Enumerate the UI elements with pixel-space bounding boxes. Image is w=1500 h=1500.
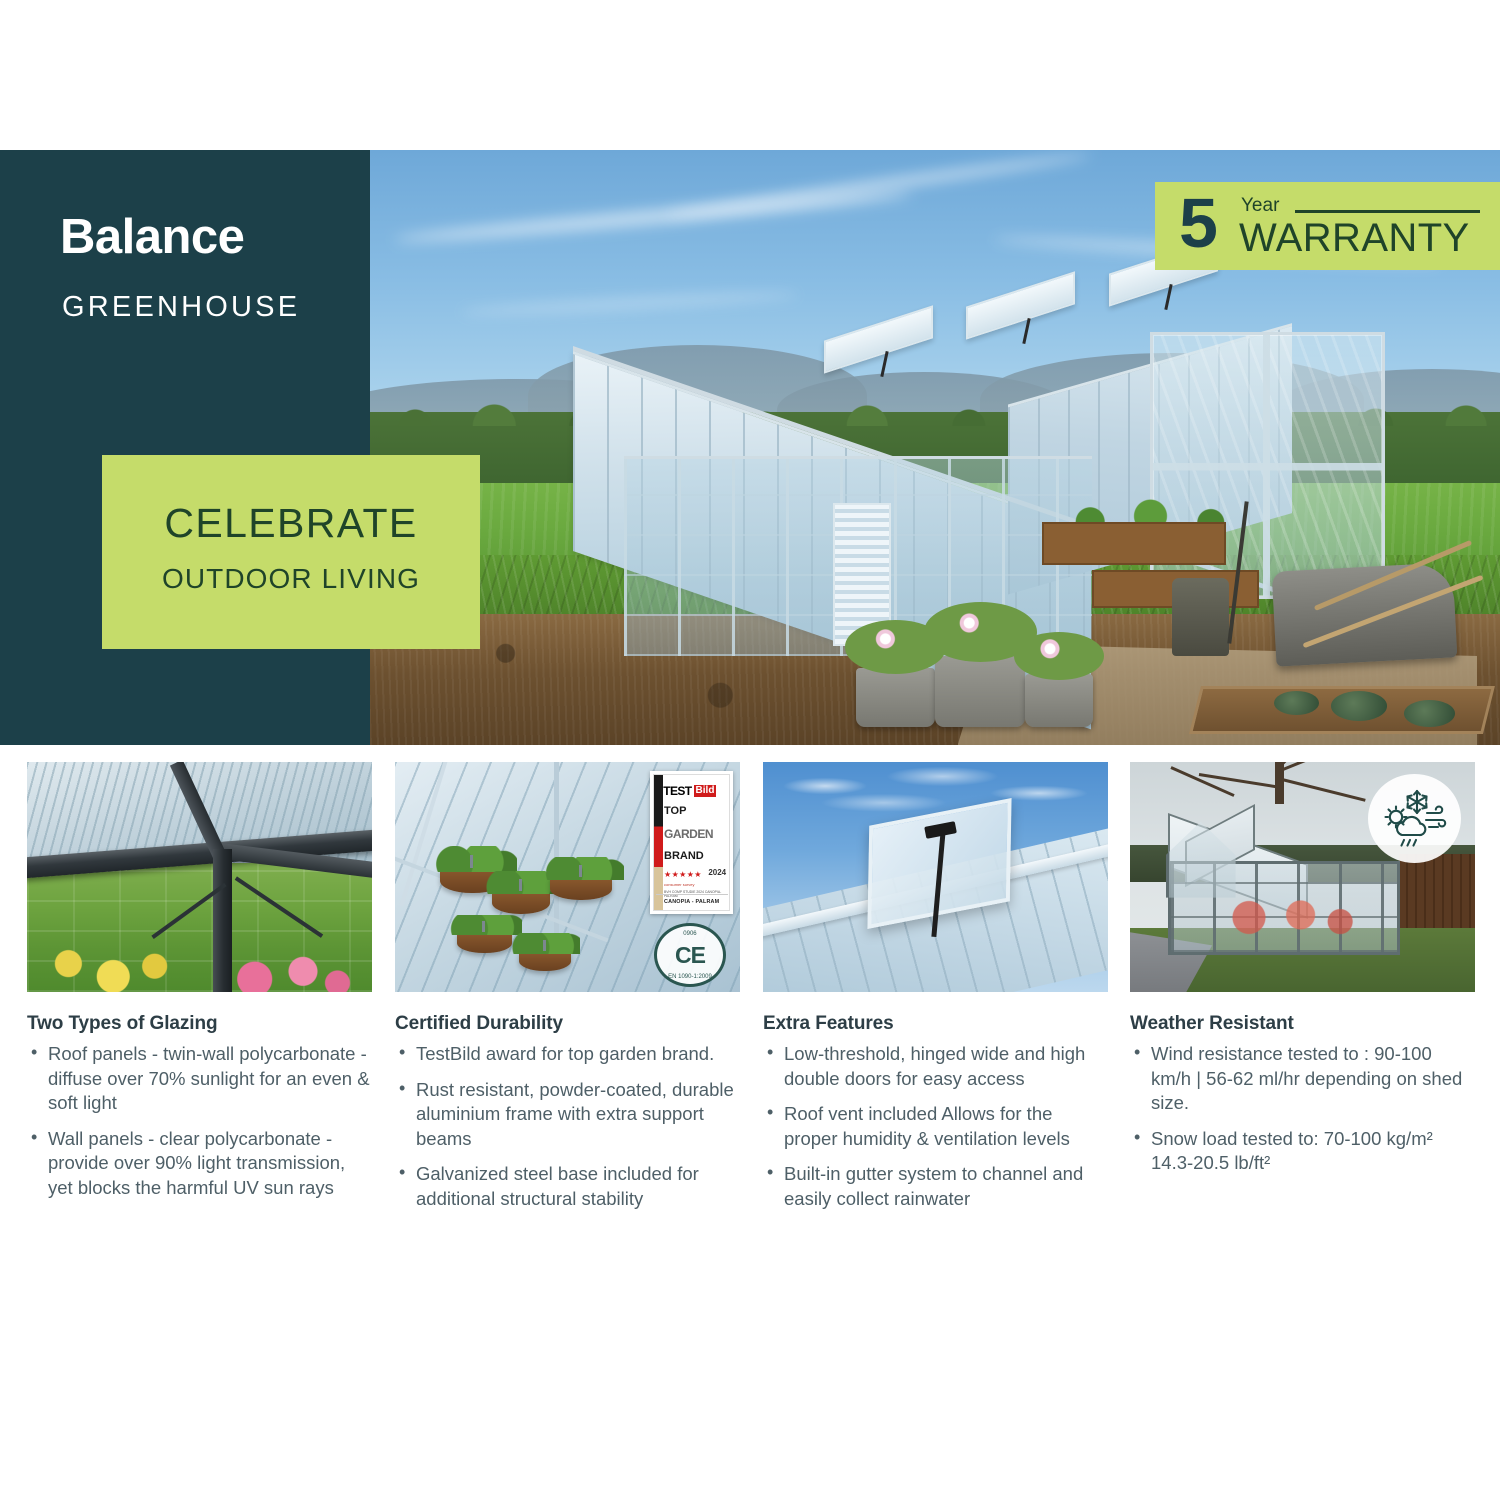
page-title: Balance: [60, 213, 244, 262]
feature-bullet: Galvanized steel base included for addit…: [395, 1162, 740, 1211]
feature-thumbnail-glazing: [27, 762, 372, 992]
roof-vent: [824, 305, 933, 374]
feature-column-weather-resistant: Weather Resistant Wind resistance tested…: [1130, 762, 1475, 1187]
feature-column-certified-durability: TEST Bild TOP GARDEN BRAND ★★★★★ 2024 co…: [395, 762, 740, 1223]
vent-arm: [1022, 318, 1030, 344]
roof-vent: [966, 272, 1075, 341]
warranty-years-number: 5: [1179, 188, 1218, 258]
feature-thumbnail-durability: TEST Bild TOP GARDEN BRAND ★★★★★ 2024 co…: [395, 762, 740, 992]
sun-snowflake-wind-rain-icon: [1379, 782, 1451, 854]
testbild-brand-footer: CANOPIA - PALRAM: [656, 894, 728, 909]
hanging-basket: [550, 877, 612, 900]
hanging-basket: [457, 932, 512, 953]
feature-bullet: Roof vent included Allows for the proper…: [763, 1102, 1108, 1151]
flower-bloom: [1014, 632, 1104, 680]
product-info-sheet: Balance GREENHOUSE CELEBRATE OUTDOOR LIV…: [0, 0, 1500, 1500]
warranty-label: WARRANTY: [1239, 218, 1470, 258]
feature-bullet: Rust resistant, powder-coated, durable a…: [395, 1078, 740, 1152]
ce-standard-text: EN 1090-1:2009: [657, 974, 723, 980]
flower-pot: [1025, 674, 1093, 728]
feature-bullet: Wall panels - clear polycarbonate -provi…: [27, 1127, 372, 1201]
feature-bullet: Wind resistance tested to : 90-100 km/h …: [1130, 1042, 1475, 1116]
tree-branch: [1278, 762, 1349, 773]
tree-branch: [1171, 766, 1235, 797]
warranty-badge: 5 Year WARRANTY: [1155, 182, 1500, 270]
cabbage: [1404, 700, 1455, 727]
ce-notified-body-number: 0906: [657, 931, 723, 937]
feature-bullet: TestBild award for top garden brand.: [395, 1042, 740, 1067]
badge-color-stripe: [654, 775, 662, 910]
testbild-year: 2024: [708, 869, 726, 877]
celebrate-callout: CELEBRATE OUTDOOR LIVING: [102, 455, 480, 649]
flower-pot: [856, 668, 935, 728]
celebrate-line-1: CELEBRATE: [102, 503, 480, 544]
warranty-year-label: Year: [1241, 196, 1279, 215]
cloud-wisp-icon: [665, 150, 1092, 220]
warranty-divider: [1295, 210, 1480, 213]
weather-conditions-icon: [1368, 774, 1461, 864]
testbild-bild-word: Bild: [694, 785, 717, 797]
metal-churn: [1172, 578, 1229, 655]
cabbage: [1331, 691, 1388, 721]
greenhouse-view-flowers: [27, 863, 372, 992]
celebrate-line-2: OUTDOOR LIVING: [102, 565, 480, 593]
interior-contents: [1206, 892, 1378, 944]
ce-mark-badge: 0906 CE EN 1090-1:2009: [654, 923, 726, 987]
feature-thumbnail-roof-vent: [763, 762, 1108, 992]
wheelbarrow: [1272, 562, 1458, 667]
ce-mark-text: CE: [675, 944, 705, 967]
testbild-award-badge: TEST Bild TOP GARDEN BRAND ★★★★★ 2024 co…: [650, 771, 733, 914]
feature-columns: Two Types of Glazing Roof panels - twin-…: [0, 762, 1500, 1322]
feature-column-extra-features: Extra Features Low-threshold, hinged wid…: [763, 762, 1108, 1223]
feature-column-two-types-of-glazing: Two Types of Glazing Roof panels - twin-…: [27, 762, 372, 1212]
testbild-line-3: BRAND: [664, 851, 704, 862]
testbild-test-word: TEST: [663, 785, 691, 797]
feature-bullet: Low-threshold, hinged wide and high doub…: [763, 1042, 1108, 1091]
frame-post: [213, 849, 232, 992]
feature-bullet: Snow load tested to: 70-100 kg/m² 14.3-2…: [1130, 1127, 1475, 1176]
feature-bullet-list: Wind resistance tested to : 90-100 km/h …: [1130, 1042, 1475, 1176]
feature-bullet: Roof panels - twin-wall polycarbonate - …: [27, 1042, 372, 1116]
feature-bullet: Built-in gutter system to channel and ea…: [763, 1162, 1108, 1211]
feature-title: Extra Features: [763, 1013, 1108, 1035]
flower-pot: [935, 656, 1025, 727]
feature-bullet-list: Low-threshold, hinged wide and high doub…: [763, 1042, 1108, 1212]
testbild-survey-label: consumer survey: [664, 883, 694, 888]
tree-branch: [1278, 777, 1366, 802]
hanging-basket: [492, 891, 551, 914]
testbild-stars: ★★★★★: [664, 871, 702, 879]
feature-title: Two Types of Glazing: [27, 1013, 372, 1035]
testbild-line-2: GARDEN: [664, 828, 713, 840]
raised-planter: [1042, 522, 1226, 565]
hanging-basket: [519, 951, 571, 972]
feature-title: Certified Durability: [395, 1013, 740, 1035]
brand-subtitle: GREENHOUSE: [62, 293, 300, 322]
feature-thumbnail-weather: [1130, 762, 1475, 992]
feature-bullet-list: Roof panels - twin-wall polycarbonate - …: [27, 1042, 372, 1201]
feature-bullet-list: TestBild award for top garden brand. Rus…: [395, 1042, 740, 1212]
feature-title: Weather Resistant: [1130, 1013, 1475, 1035]
testbild-line-1: TOP: [664, 806, 686, 817]
